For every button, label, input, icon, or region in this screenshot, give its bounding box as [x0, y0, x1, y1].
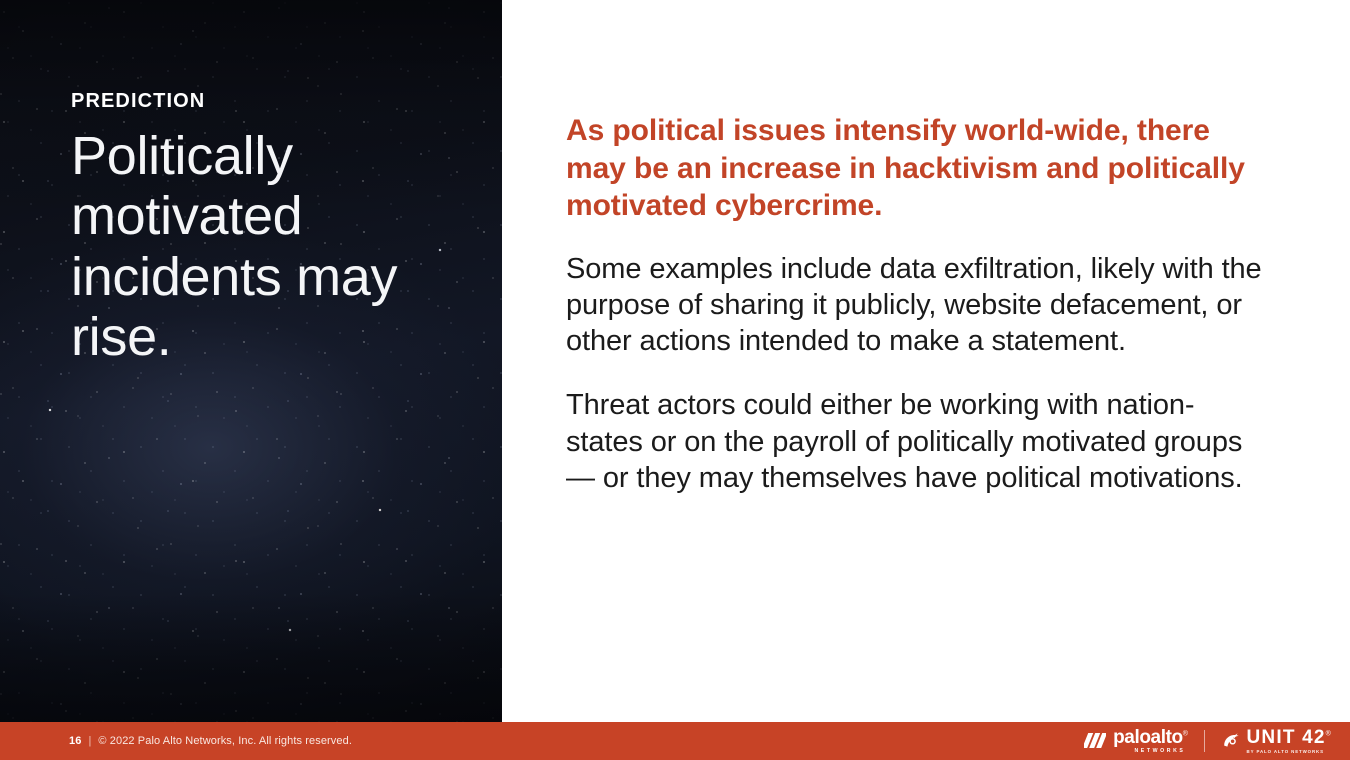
paloalto-name: paloalto®	[1113, 728, 1187, 747]
left-text-block: PREDICTION Politically motivated inciden…	[71, 90, 471, 368]
headline-statement: As political issues intensify world-wide…	[566, 112, 1266, 225]
unit42-name: UNIT 42®	[1247, 728, 1333, 747]
paloalto-logo: paloalto® NETWORKS	[1084, 728, 1187, 754]
body-paragraph-2: Threat actors could either be working wi…	[566, 387, 1266, 496]
right-content-panel: As political issues intensify world-wide…	[502, 0, 1350, 722]
logo-divider	[1204, 730, 1205, 752]
footer-separator: |	[88, 735, 91, 747]
body-paragraph-1: Some examples include data exfiltration,…	[566, 251, 1266, 360]
left-starfield-panel: PREDICTION Politically motivated inciden…	[0, 0, 502, 722]
paloalto-trademark: ®	[1183, 731, 1188, 738]
unit42-logo: UNIT 42® BY PALO ALTO NETWORKS	[1221, 728, 1333, 754]
footer-bar: 16 | © 2022 Palo Alto Networks, Inc. All…	[0, 722, 1350, 760]
paloalto-slashes-icon	[1084, 733, 1106, 748]
unit42-name-text: UNIT 42	[1247, 727, 1326, 748]
paloalto-subtitle: NETWORKS	[1134, 749, 1185, 754]
slide: PREDICTION Politically motivated inciden…	[0, 0, 1350, 760]
unit42-swirl-icon	[1221, 731, 1241, 751]
footer-copyright-group: 16 | © 2022 Palo Alto Networks, Inc. All…	[69, 735, 352, 747]
right-text-block: As political issues intensify world-wide…	[566, 112, 1266, 496]
unit42-wordmark: UNIT 42® BY PALO ALTO NETWORKS	[1247, 728, 1333, 754]
copyright-text: © 2022 Palo Alto Networks, Inc. All righ…	[98, 735, 352, 747]
footer-logo-group: paloalto® NETWORKS UNIT 42® BY PALO ALTO…	[1084, 728, 1332, 754]
prediction-eyebrow-label: PREDICTION	[71, 90, 471, 112]
slide-title: Politically motivated incidents may rise…	[71, 126, 471, 368]
paloalto-name-text: paloalto	[1113, 727, 1183, 748]
unit42-trademark: ®	[1326, 730, 1332, 737]
paloalto-wordmark: paloalto® NETWORKS	[1113, 728, 1187, 754]
unit42-subtitle: BY PALO ALTO NETWORKS	[1247, 750, 1333, 754]
page-number: 16	[69, 735, 81, 747]
